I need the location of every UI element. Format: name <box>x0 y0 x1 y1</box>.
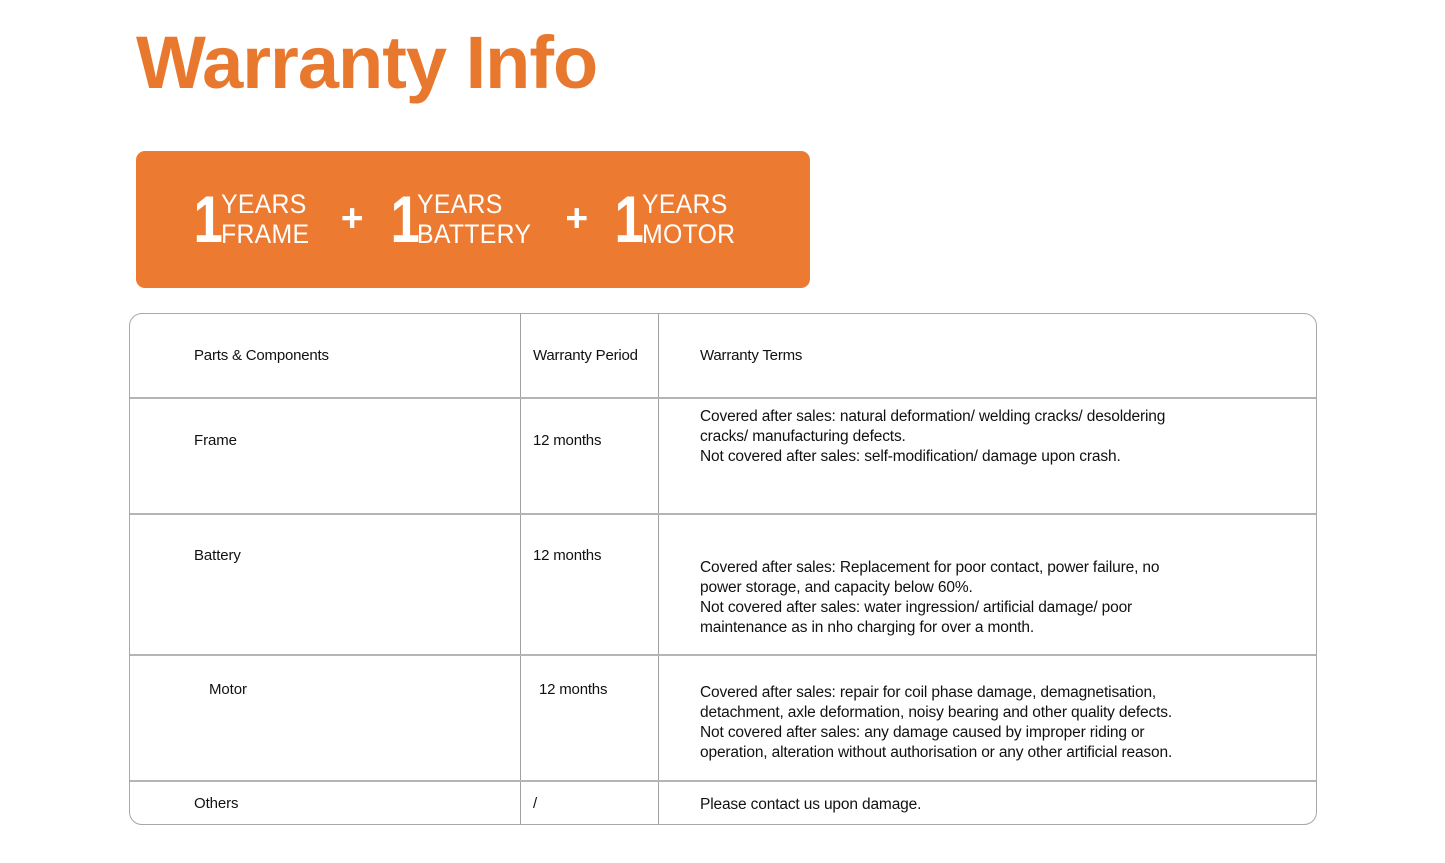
warranty-group-motor: 1 YEARS MOTOR <box>611 190 743 248</box>
terms-text: Please contact us upon damage. <box>700 795 921 815</box>
plus-separator-icon: + <box>341 199 364 241</box>
warranty-group-battery: 1 YEARS BATTERY <box>387 190 542 248</box>
warranty-part-label: MOTOR <box>642 220 735 249</box>
column-header-period: Warranty Period <box>533 347 638 364</box>
warranty-years-label-battery: YEARS BATTERY <box>417 190 531 248</box>
warranty-unit-label: YEARS <box>642 190 735 219</box>
period-label: / <box>533 795 537 812</box>
period-label: 12 months <box>533 681 607 698</box>
part-label: Motor <box>194 681 247 698</box>
warranty-unit-label: YEARS <box>417 190 531 219</box>
table-row: Others / Please contact us upon damage. <box>130 780 1316 824</box>
header-cell-terms: Warranty Terms <box>659 314 1316 397</box>
table-row: Motor 12 months Covered after sales: rep… <box>130 654 1316 780</box>
cell-warranty-period: 12 months <box>521 515 659 654</box>
table-row: Frame 12 months Covered after sales: nat… <box>130 397 1316 513</box>
terms-text: Covered after sales: natural deformation… <box>700 407 1165 467</box>
table-row: Battery 12 months Covered after sales: R… <box>130 513 1316 654</box>
header-cell-parts: Parts & Components <box>130 314 521 397</box>
terms-text: Covered after sales: repair for coil pha… <box>700 683 1172 763</box>
warranty-table: Parts & Components Warranty Period Warra… <box>129 313 1317 825</box>
cell-part-name: Frame <box>130 399 521 513</box>
period-label: 12 months <box>533 432 601 449</box>
warranty-years-label-motor: YEARS MOTOR <box>642 190 735 248</box>
period-label: 12 months <box>533 547 601 564</box>
plus-separator-icon: + <box>565 199 588 241</box>
warranty-part-label: FRAME <box>221 220 309 249</box>
cell-warranty-period: 12 months <box>521 399 659 513</box>
table-header-row: Parts & Components Warranty Period Warra… <box>130 314 1316 397</box>
cell-part-name: Battery <box>130 515 521 654</box>
warranty-years-number: 1 <box>390 191 418 248</box>
warranty-years-number: 1 <box>615 191 643 248</box>
warranty-part-label: BATTERY <box>417 220 531 249</box>
cell-warranty-terms: Covered after sales: repair for coil pha… <box>659 656 1316 780</box>
part-label: Others <box>194 795 238 812</box>
terms-text: Covered after sales: Replacement for poo… <box>700 558 1159 638</box>
cell-warranty-period: / <box>521 782 659 824</box>
part-label: Frame <box>194 432 237 449</box>
cell-warranty-terms: Please contact us upon damage. <box>659 782 1316 824</box>
warranty-unit-label: YEARS <box>221 190 309 219</box>
cell-warranty-period: 12 months <box>521 656 659 780</box>
warranty-summary-banner: 1 YEARS FRAME + 1 YEARS BATTERY + 1 YEAR… <box>136 151 810 288</box>
warranty-group-frame: 1 YEARS FRAME <box>190 190 317 248</box>
warranty-years-number: 1 <box>193 191 221 248</box>
page-title: Warranty Info <box>136 26 597 100</box>
part-label: Battery <box>194 547 241 564</box>
column-header-terms: Warranty Terms <box>700 347 802 364</box>
cell-warranty-terms: Covered after sales: Replacement for poo… <box>659 515 1316 654</box>
cell-part-name: Motor <box>130 656 521 780</box>
column-header-parts: Parts & Components <box>194 347 329 364</box>
header-cell-period: Warranty Period <box>521 314 659 397</box>
cell-warranty-terms: Covered after sales: natural deformation… <box>659 399 1316 513</box>
warranty-years-label-frame: YEARS FRAME <box>221 190 309 248</box>
cell-part-name: Others <box>130 782 521 824</box>
